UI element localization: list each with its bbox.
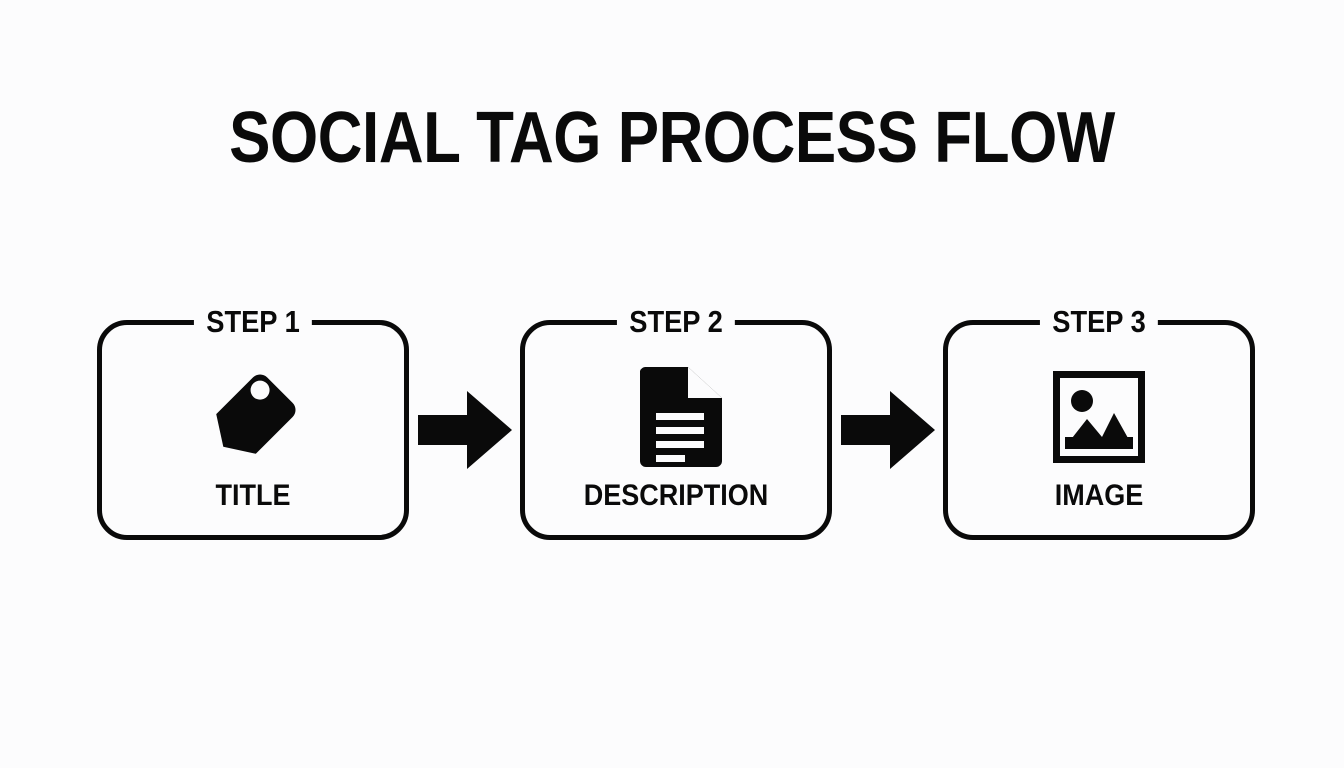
step-icon-wrap-3 (948, 369, 1250, 469)
flow-connector-2 (840, 320, 936, 540)
step-icon-wrap-2 (525, 369, 827, 469)
tag-icon (203, 367, 303, 472)
step-label-1: TITLE (117, 479, 389, 513)
picture-icon (1053, 371, 1145, 468)
arrow-right-icon (841, 391, 935, 469)
step-label-2: DESCRIPTION (540, 479, 812, 513)
step-badge-3: STEP 3 (1040, 305, 1158, 339)
flow-connector-1 (417, 320, 513, 540)
page-title: SOCIAL TAG PROCESS FLOW (94, 98, 1250, 178)
step-badge-1: STEP 1 (194, 305, 312, 339)
step-label-3: IMAGE (963, 479, 1235, 513)
arrow-right-icon (418, 391, 512, 469)
document-icon (630, 367, 722, 472)
step-card-3[interactable]: STEP 3 IMAGE (943, 320, 1255, 540)
step-badge-2: STEP 2 (617, 305, 735, 339)
process-flow-diagram: STEP 1 TITLE STEP 2 (97, 320, 1255, 540)
step-card-1[interactable]: STEP 1 TITLE (97, 320, 409, 540)
step-icon-wrap-1 (102, 369, 404, 469)
step-card-2[interactable]: STEP 2 DESCRIPTION (520, 320, 832, 540)
